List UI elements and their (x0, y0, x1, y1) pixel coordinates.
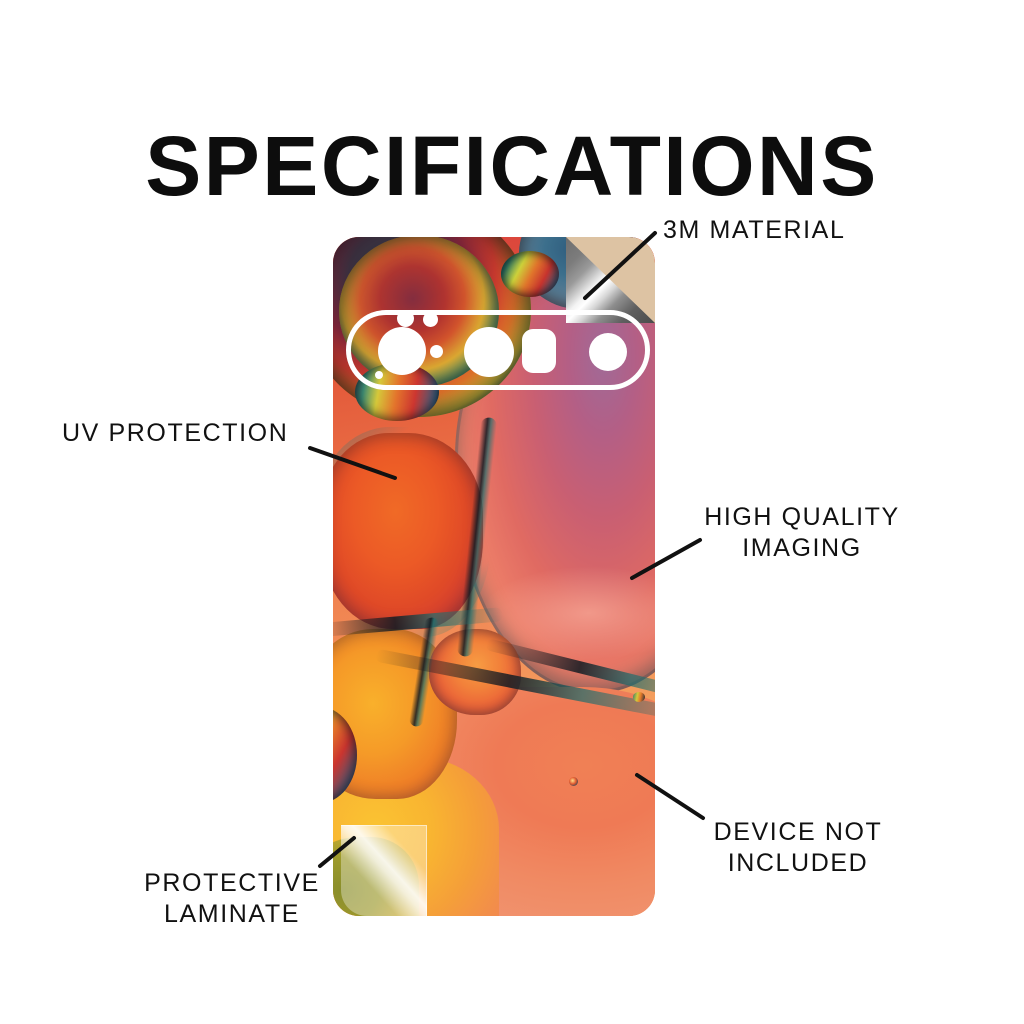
callout-label-3m-material: 3M MATERIAL (663, 215, 845, 246)
specifications-page: SPECIFICATIONS (0, 0, 1024, 1024)
callout-label-device-not-included: DEVICE NOT INCLUDED (703, 817, 893, 879)
artwork-bubble-rainbow-small (501, 251, 559, 297)
callout-label-uv-protection: UV PROTECTION (62, 418, 288, 449)
phone-skin-preview (333, 237, 655, 916)
skin-artwork (333, 237, 655, 916)
sensor-dot-1-icon (397, 310, 414, 327)
lens-cutout-3-icon (589, 333, 627, 371)
artwork-cell-orange-left (333, 433, 483, 629)
laminate-overlay (341, 825, 427, 916)
artwork-speck-1 (569, 777, 578, 786)
flash-cutout-icon (522, 329, 556, 373)
page-title: SPECIFICATIONS (0, 118, 1024, 214)
artwork-speck-4 (633, 692, 645, 702)
sensor-dot-2-icon (423, 312, 438, 327)
sensor-dot-3-icon (430, 345, 443, 358)
callout-label-protective-laminate: PROTECTIVE LAMINATE (140, 868, 324, 930)
callout-label-high-quality-imaging: HIGH QUALITY IMAGING (693, 502, 911, 564)
lens-cutout-1-icon (378, 327, 426, 375)
laminate-edge (341, 825, 427, 916)
sensor-dot-4-icon (375, 371, 383, 379)
lens-cutout-2-icon (464, 327, 514, 377)
